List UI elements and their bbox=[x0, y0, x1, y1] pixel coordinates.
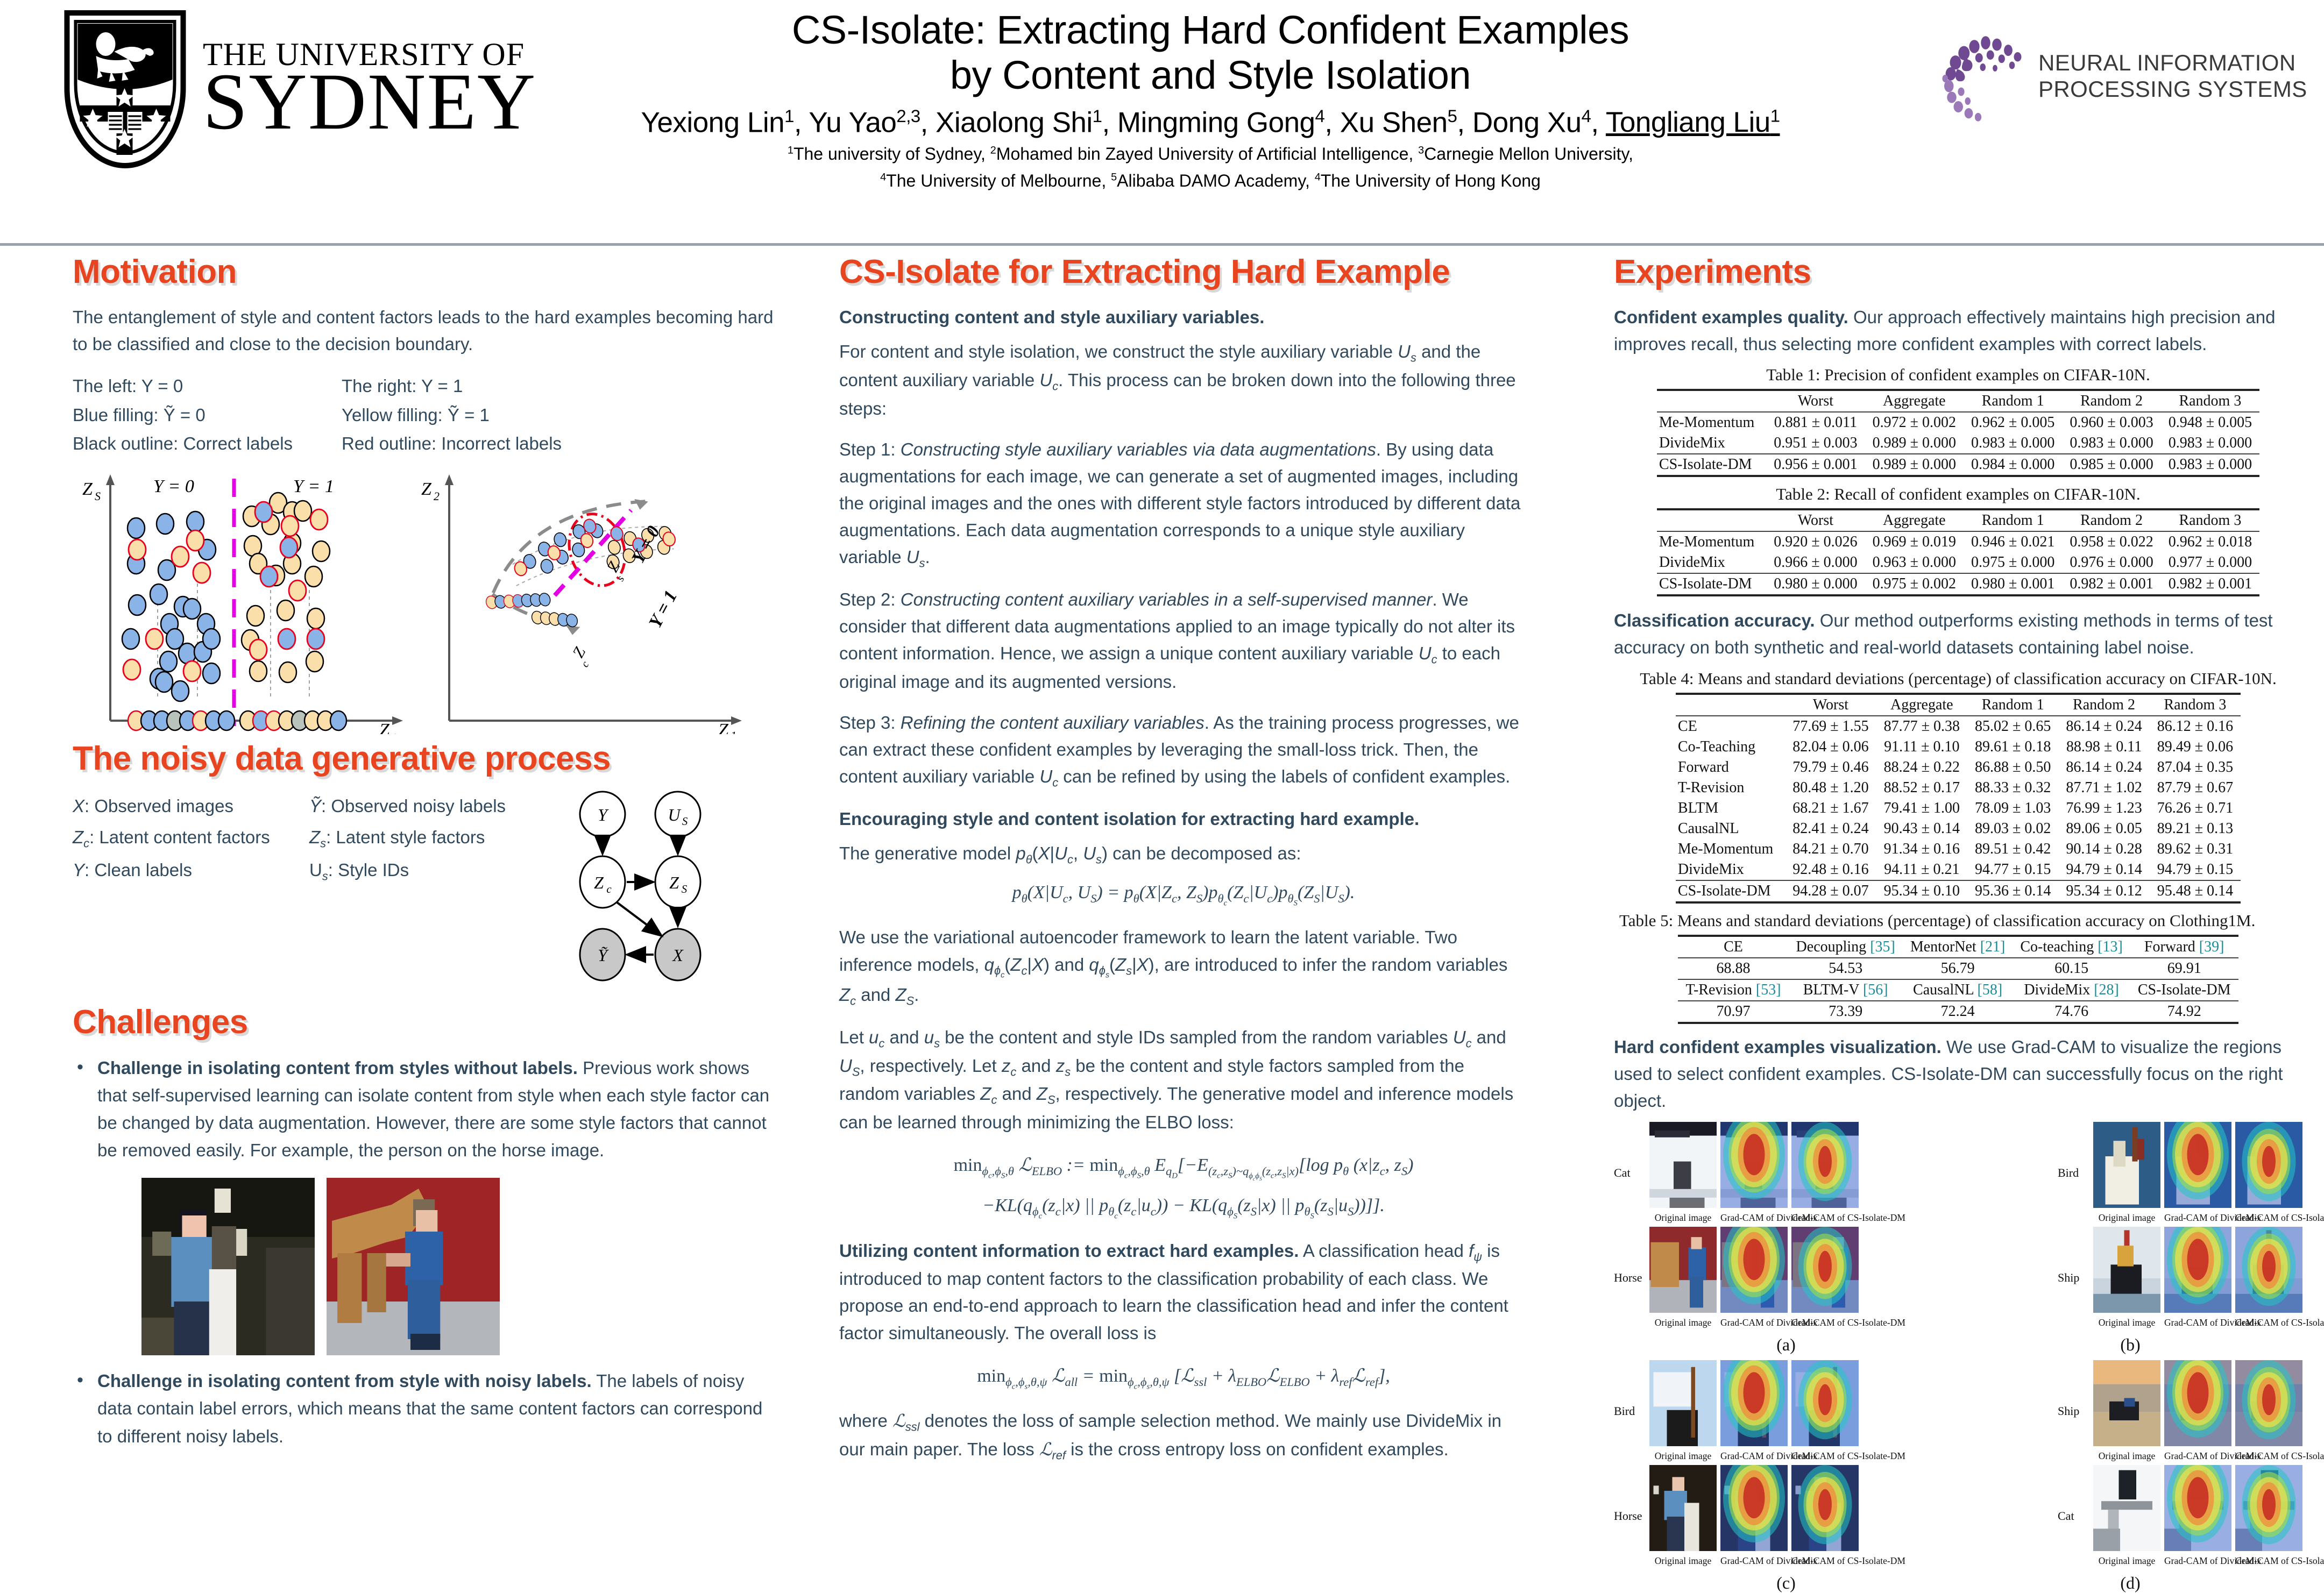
section-heading-challenges: Challenges bbox=[73, 1003, 777, 1041]
t4-r6-c2: 89.51 ± 0.42 bbox=[1967, 839, 2058, 859]
t4-r1-c1: 91.11 ± 0.10 bbox=[1876, 737, 1967, 757]
t4-r2-c1: 88.24 ± 0.22 bbox=[1876, 757, 1967, 778]
t5-v2-c4: 74.92 bbox=[2130, 1001, 2238, 1023]
t5-v2-c2: 72.24 bbox=[1903, 1001, 2013, 1023]
scatter-svg: Z S Z c Y = 0 Y = 1 bbox=[73, 468, 777, 734]
neurips-line-2: PROCESSING SYSTEMS bbox=[2038, 76, 2307, 103]
gradcam-image bbox=[2164, 1122, 2231, 1208]
subheading-gradcam-visualization: Hard confident examples visualization. bbox=[1614, 1037, 1942, 1057]
t4-r0-name: CE bbox=[1676, 716, 1785, 737]
gradcam-image bbox=[1720, 1465, 1788, 1551]
t4-r7-name: DivideMix bbox=[1676, 859, 1785, 880]
t2-col-3: Random 1 bbox=[1964, 509, 2062, 531]
svg-text:S: S bbox=[682, 883, 688, 895]
paragraph-step-2: Step 2: Constructing content auxiliary v… bbox=[839, 586, 1528, 695]
affiliations-line-1: 1The university of Sydney, 2Mohamed bin … bbox=[538, 143, 1883, 166]
t4-r6-name: Me-Momentum bbox=[1676, 839, 1785, 859]
gradcam-image bbox=[2164, 1227, 2231, 1313]
t1-r0-name: Me-Momentum bbox=[1657, 412, 1766, 433]
gradcam-panel-b: BirdOriginal imageGrad-CAM of DivideMixG… bbox=[2058, 1122, 2302, 1332]
definition-y: Y: Clean labels bbox=[73, 855, 309, 886]
svg-text:Z: Z bbox=[669, 873, 679, 892]
table-row: Forward79.79 ± 0.4688.24 ± 0.2286.88 ± 0… bbox=[1676, 757, 2241, 778]
t1-r1-c3: 0.983 ± 0.000 bbox=[2062, 433, 2160, 454]
gradcam-image bbox=[1720, 1227, 1788, 1313]
paragraph-step-3: Step 3: Refining the content auxiliary v… bbox=[839, 709, 1528, 792]
gradcam-row-ab: CatOriginal imageGrad-CAM of DivideMixGr… bbox=[1614, 1122, 2302, 1332]
gradcam-column-caption: Grad-CAM of CS-Isolate-DM bbox=[2235, 1450, 2302, 1462]
t4-hl-c1: 95.34 ± 0.10 bbox=[1876, 880, 1967, 902]
subheading-confident-quality: Confident examples quality. bbox=[1614, 307, 1848, 327]
t2-r1-c4: 0.977 ± 0.000 bbox=[2161, 552, 2259, 573]
gradcam-image bbox=[2093, 1227, 2160, 1313]
gradcam-column-caption: Grad-CAM of DivideMix bbox=[1720, 1555, 1788, 1567]
gradcam-cell: Original image bbox=[1649, 1360, 1717, 1462]
svg-text:c: c bbox=[579, 659, 592, 669]
gradcam-cell: Original image bbox=[2093, 1465, 2160, 1567]
gradcam-image bbox=[1791, 1360, 1859, 1446]
gradcam-cell: Original image bbox=[1649, 1122, 1717, 1224]
gradcam-image bbox=[1649, 1122, 1717, 1208]
poster-root: THE UNIVERSITY OF SYDNEY CS-Isolate: Ext… bbox=[0, 0, 2324, 1549]
t5-h1-c0: CE bbox=[1678, 936, 1788, 958]
t1-hl-c1: 0.989 ± 0.000 bbox=[1865, 454, 1964, 476]
t4-r3-c3: 87.71 ± 1.02 bbox=[2058, 778, 2149, 798]
gradcam-row-cd: BirdOriginal imageGrad-CAM of DivideMixG… bbox=[1614, 1360, 2302, 1570]
t4-r0-c0: 77.69 ± 1.55 bbox=[1785, 716, 1876, 737]
gradcam-image bbox=[1649, 1465, 1717, 1551]
neurips-logo: NEURAL INFORMATION PROCESSING SYSTEMS bbox=[1937, 23, 2313, 130]
t2-r1-c1: 0.963 ± 0.000 bbox=[1865, 552, 1964, 573]
t4-hl-c0: 94.28 ± 0.07 bbox=[1785, 880, 1876, 902]
svg-text:X: X bbox=[671, 945, 684, 965]
gradcam-cell: Original image bbox=[1649, 1227, 1717, 1328]
t4-r7-c3: 94.79 ± 0.14 bbox=[2058, 859, 2149, 880]
table-row: T-Revision80.48 ± 1.2088.52 ± 0.1788.33 … bbox=[1676, 778, 2241, 798]
table-5-caption: Table 5: Means and standard deviations (… bbox=[1614, 911, 2302, 930]
subheading-classification-accuracy: Classification accuracy. bbox=[1614, 610, 1815, 630]
causal-graph: Y US Zc ZS Ỹ X bbox=[546, 791, 740, 992]
table-row: Me-Momentum 0.881 ± 0.011 0.972 ± 0.002 … bbox=[1657, 412, 2259, 433]
gradcam-cell: Grad-CAM of DivideMix bbox=[2164, 1122, 2231, 1224]
t5-v2-c0: 70.97 bbox=[1678, 1001, 1788, 1023]
t5-v1-c1: 54.53 bbox=[1789, 958, 1903, 979]
table-row: 70.9773.3972.2474.7674.92 bbox=[1678, 1001, 2238, 1023]
formula-overall-loss: minϕc,ϕs,θ,ψ ℒall = minϕc,ϕs,θ,ψ [ℒssl +… bbox=[839, 1361, 1528, 1393]
gradcam-class-label: Horse bbox=[1614, 1509, 1649, 1523]
t2-col-4: Random 2 bbox=[2062, 509, 2160, 531]
table-row: CEDecoupling [35]MentorNet [21]Co-teachi… bbox=[1678, 936, 2238, 958]
t1-hl-c0: 0.956 ± 0.001 bbox=[1766, 454, 1865, 476]
t4-r0-c2: 85.02 ± 0.65 bbox=[1967, 716, 2058, 737]
gradcam-panel-c: BirdOriginal imageGrad-CAM of DivideMixG… bbox=[1614, 1360, 1859, 1570]
gradcam-column-caption: Original image bbox=[2093, 1450, 2160, 1462]
gradcam-cell: Grad-CAM of DivideMix bbox=[2164, 1360, 2231, 1462]
challenge-item-1: Challenge in isolating content from styl… bbox=[73, 1054, 777, 1164]
gradcam-cell: Grad-CAM of DivideMix bbox=[1720, 1227, 1788, 1328]
gradcam-class-label: Cat bbox=[2058, 1509, 2093, 1523]
causal-graph-svg: Y US Zc ZS Ỹ X bbox=[546, 791, 734, 990]
paragraph-step-1: Step 1: Constructing style auxiliary var… bbox=[839, 436, 1528, 572]
t5-v2-c3: 74.76 bbox=[2013, 1001, 2130, 1023]
t2-hl-c1: 0.975 ± 0.002 bbox=[1865, 573, 1964, 595]
t5-v2-c1: 73.39 bbox=[1789, 1001, 1903, 1023]
t1-r0-c4: 0.948 ± 0.005 bbox=[2161, 412, 2259, 433]
t4-r6-c4: 89.62 ± 0.31 bbox=[2150, 839, 2241, 859]
t2-col-0 bbox=[1657, 509, 1766, 531]
gradcam-image bbox=[1791, 1227, 1859, 1313]
gradcam-image bbox=[2235, 1227, 2302, 1313]
t4-r5-name: CausalNL bbox=[1676, 819, 1785, 839]
t5-h2-c1: BLTM-V [56] bbox=[1789, 979, 1903, 1001]
svg-text:Y = 1: Y = 1 bbox=[645, 587, 681, 631]
t1-r1-c4: 0.983 ± 0.000 bbox=[2161, 433, 2259, 454]
paragraph-generative-model: The generative model pθ(X|Uc, Us) can be… bbox=[839, 840, 1528, 869]
gradcam-column-caption: Grad-CAM of DivideMix bbox=[2164, 1555, 2231, 1567]
t4-r2-c0: 79.79 ± 0.46 bbox=[1785, 757, 1876, 778]
table-row: DivideMix92.48 ± 0.1694.11 ± 0.2194.77 ±… bbox=[1676, 859, 2241, 880]
gradcam-image bbox=[2093, 1360, 2160, 1446]
t5-v1-c0: 68.88 bbox=[1678, 958, 1788, 979]
gradcam-cell: Grad-CAM of DivideMix bbox=[1720, 1122, 1788, 1224]
t4-r7-c2: 94.77 ± 0.15 bbox=[1967, 859, 2058, 880]
t4-col-4: Random 2 bbox=[2058, 694, 2149, 716]
gradcam-cell: Grad-CAM of CS-Isolate-DM bbox=[2235, 1465, 2302, 1567]
t2-r1-name: DivideMix bbox=[1657, 552, 1766, 573]
table-row: DivideMix 0.966 ± 0.000 0.963 ± 0.000 0.… bbox=[1657, 552, 2259, 573]
subfig-label-c: (c) bbox=[1614, 1573, 1958, 1593]
t4-r2-c3: 86.14 ± 0.24 bbox=[2058, 757, 2149, 778]
gradcam-column-caption: Grad-CAM of DivideMix bbox=[2164, 1317, 2231, 1328]
paragraph-construct: For content and style isolation, we cons… bbox=[839, 338, 1528, 422]
gradcam-image bbox=[2235, 1465, 2302, 1551]
gradcam-image bbox=[1720, 1360, 1788, 1446]
column-right: Experiments Confident examples quality. … bbox=[1614, 253, 2302, 1593]
t4-r5-c2: 89.03 ± 0.02 bbox=[1967, 819, 2058, 839]
subheading-utilizing-content: Utilizing content information to extract… bbox=[839, 1241, 1299, 1261]
subheading-constructing-variables: Constructing content and style auxiliary… bbox=[839, 307, 1264, 327]
section-heading-experiments: Experiments bbox=[1614, 253, 2302, 291]
table-row-highlight: CS-Isolate-DM 0.980 ± 0.000 0.975 ± 0.00… bbox=[1657, 573, 2259, 595]
gradcam-class-label: Horse bbox=[1614, 1271, 1649, 1285]
formula-elbo-line-2: −KL(qϕc(zc|x) || pθc(zc|uc)) − KL(qϕS(zS… bbox=[839, 1190, 1528, 1223]
motivation-paragraph: The entanglement of style and content fa… bbox=[73, 304, 777, 358]
svg-text:s: s bbox=[614, 574, 627, 583]
legend-left-2: Black outline: Correct labels bbox=[73, 429, 342, 458]
t4-hl-c2: 95.36 ± 0.14 bbox=[1967, 880, 2058, 902]
gradcam-column-caption: Original image bbox=[2093, 1317, 2160, 1328]
t5-h2-c2: CausalNL [58] bbox=[1903, 979, 2013, 1001]
gradcam-cell: Original image bbox=[1649, 1465, 1717, 1567]
gradcam-column-caption: Grad-CAM of DivideMix bbox=[1720, 1212, 1788, 1224]
svg-text:Y = 0: Y = 0 bbox=[153, 477, 194, 496]
gradcam-image bbox=[2235, 1360, 2302, 1446]
gradcam-image bbox=[1649, 1360, 1717, 1446]
neurips-line-1: NEURAL INFORMATION bbox=[2038, 50, 2307, 76]
t2-col-2: Aggregate bbox=[1865, 509, 1964, 531]
t2-r1-c0: 0.966 ± 0.000 bbox=[1766, 552, 1865, 573]
gradcam-cell: Grad-CAM of DivideMix bbox=[2164, 1227, 2231, 1328]
gradcam-cell: Original image bbox=[2093, 1122, 2160, 1224]
gradcam-column-caption: Grad-CAM of CS-Isolate-DM bbox=[2235, 1555, 2302, 1567]
t4-r1-c4: 89.49 ± 0.06 bbox=[2150, 737, 2241, 757]
t4-r6-c1: 91.34 ± 0.16 bbox=[1876, 839, 1967, 859]
t2-r1-c2: 0.975 ± 0.000 bbox=[1964, 552, 2062, 573]
t5-v1-c2: 56.79 bbox=[1903, 958, 2013, 979]
t4-r5-c0: 82.41 ± 0.24 bbox=[1785, 819, 1876, 839]
t2-r0-c2: 0.946 ± 0.021 bbox=[1964, 531, 2062, 552]
t1-col-5: Random 3 bbox=[2161, 390, 2259, 412]
t2-hl-c3: 0.982 ± 0.001 bbox=[2062, 573, 2160, 595]
section-heading-motivation: Motivation bbox=[73, 253, 777, 291]
t1-col-0 bbox=[1657, 390, 1766, 412]
gradcam-column-caption: Original image bbox=[2093, 1555, 2160, 1567]
gradcam-image bbox=[1791, 1465, 1859, 1551]
table-row: BLTM68.21 ± 1.6779.41 ± 1.0078.09 ± 1.03… bbox=[1676, 798, 2241, 819]
author-list: Yexiong Lin1, Yu Yao2,3, Xiaolong Shi1, … bbox=[538, 106, 1883, 139]
t4-r2-c4: 87.04 ± 0.35 bbox=[2150, 757, 2241, 778]
t4-r4-c3: 76.99 ± 1.23 bbox=[2058, 798, 2149, 819]
gradcam-cell: Grad-CAM of CS-Isolate-DM bbox=[1791, 1122, 1859, 1224]
column-left: Motivation The entanglement of style and… bbox=[73, 253, 777, 1464]
t1-hl-c2: 0.984 ± 0.000 bbox=[1964, 454, 2062, 476]
svg-text:Y = 1: Y = 1 bbox=[293, 477, 334, 496]
gradcam-image bbox=[1649, 1227, 1717, 1313]
table-row: DivideMix 0.951 ± 0.003 0.989 ± 0.000 0.… bbox=[1657, 433, 2259, 454]
poster-title-line-2: by Content and Style Isolation bbox=[538, 53, 1883, 98]
gradcam-cell: Grad-CAM of CS-Isolate-DM bbox=[1791, 1465, 1859, 1567]
t4-r4-c1: 79.41 ± 1.00 bbox=[1876, 798, 1967, 819]
t4-r3-c1: 88.52 ± 0.17 bbox=[1876, 778, 1967, 798]
gradcam-column-caption: Grad-CAM of CS-Isolate-DM bbox=[2235, 1317, 2302, 1328]
t1-r1-c0: 0.951 ± 0.003 bbox=[1766, 433, 1865, 454]
section-heading-generative-process: The noisy data generative process bbox=[73, 739, 777, 778]
gradcam-column-caption: Original image bbox=[1649, 1555, 1717, 1567]
t4-r1-c3: 88.98 ± 0.11 bbox=[2058, 737, 2149, 757]
t4-r4-c2: 78.09 ± 1.03 bbox=[1967, 798, 2058, 819]
gradcam-column-caption: Original image bbox=[1649, 1317, 1717, 1328]
subfig-label-d: (d) bbox=[1958, 1573, 2302, 1593]
table-2-recall: Worst Aggregate Random 1 Random 2 Random… bbox=[1657, 508, 2259, 596]
svg-text:Z: Z bbox=[569, 644, 589, 660]
gradcam-class-label: Ship bbox=[2058, 1271, 2093, 1285]
gradcam-column-caption: Grad-CAM of DivideMix bbox=[2164, 1212, 2231, 1224]
t4-r2-name: Forward bbox=[1676, 757, 1785, 778]
t2-r0-c1: 0.969 ± 0.019 bbox=[1865, 531, 1964, 552]
gradcam-class-label: Cat bbox=[1614, 1166, 1649, 1180]
t4-col-5: Random 3 bbox=[2150, 694, 2241, 716]
t2-hl-c0: 0.980 ± 0.000 bbox=[1766, 573, 1865, 595]
definition-us: Us: Style IDs bbox=[309, 855, 546, 887]
t4-r7-c4: 94.79 ± 0.15 bbox=[2150, 859, 2241, 880]
t4-r4-c0: 68.21 ± 1.67 bbox=[1785, 798, 1876, 819]
gradcam-image bbox=[2093, 1122, 2160, 1208]
gradcam-cell: Grad-CAM of CS-Isolate-DM bbox=[1791, 1227, 1859, 1328]
svg-text:Z: Z bbox=[421, 479, 432, 499]
t4-r5-c1: 90.43 ± 0.14 bbox=[1876, 819, 1967, 839]
column-middle: CS-Isolate for Extracting Hard Example C… bbox=[839, 253, 1528, 1478]
gradcam-cell: Grad-CAM of DivideMix bbox=[1720, 1360, 1788, 1462]
gradcam-subfig-labels-ab: (a) (b) bbox=[1614, 1332, 2302, 1355]
t4-col-1: Worst bbox=[1785, 694, 1876, 716]
gradcam-column-caption: Grad-CAM of CS-Isolate-DM bbox=[2235, 1212, 2302, 1224]
table-row: T-Revision [53]BLTM-V [56]CausalNL [58]D… bbox=[1678, 979, 2238, 1001]
challenges-list: Challenge in isolating content from styl… bbox=[73, 1054, 777, 1164]
challenge-item-2: Challenge in isolating content from styl… bbox=[73, 1367, 777, 1449]
t1-col-2: Aggregate bbox=[1865, 390, 1964, 412]
gradcam-cell: Grad-CAM of DivideMix bbox=[2164, 1465, 2231, 1567]
svg-text:Z: Z bbox=[82, 479, 93, 499]
t1-hl-c4: 0.983 ± 0.000 bbox=[2161, 454, 2259, 476]
t4-r1-c0: 82.04 ± 0.06 bbox=[1785, 737, 1876, 757]
t1-r1-name: DivideMix bbox=[1657, 433, 1766, 454]
gradcam-column-caption: Grad-CAM of CS-Isolate-DM bbox=[1791, 1450, 1859, 1462]
photo-person-night bbox=[141, 1178, 315, 1355]
svg-text:Z: Z bbox=[594, 873, 604, 892]
t4-hl-c4: 95.48 ± 0.14 bbox=[2150, 880, 2241, 902]
t5-h2-c0: T-Revision [53] bbox=[1678, 979, 1788, 1001]
t4-col-0 bbox=[1676, 694, 1785, 716]
t4-r0-c3: 86.14 ± 0.24 bbox=[2058, 716, 2149, 737]
t5-h1-c4: Forward [39] bbox=[2130, 936, 2238, 958]
gradcam-cell: Original image bbox=[2093, 1360, 2160, 1462]
t1-r0-c1: 0.972 ± 0.002 bbox=[1865, 412, 1964, 433]
table-2-caption: Table 2: Recall of confident examples on… bbox=[1614, 485, 2302, 504]
t2-col-5: Random 3 bbox=[2161, 509, 2259, 531]
challenges-list-2: Challenge in isolating content from styl… bbox=[73, 1367, 777, 1449]
t5-h2-c4: CS-Isolate-DM bbox=[2130, 979, 2238, 1001]
definition-zc: Zc: Latent content factors bbox=[73, 822, 309, 854]
poster-title-line-1: CS-Isolate: Extracting Hard Confident Ex… bbox=[538, 8, 1883, 53]
t4-r7-c0: 92.48 ± 0.16 bbox=[1785, 859, 1876, 880]
example-photos bbox=[141, 1178, 777, 1355]
svg-text:1: 1 bbox=[731, 729, 736, 734]
header-divider bbox=[0, 243, 2324, 246]
poster-header: THE UNIVERSITY OF SYDNEY CS-Isolate: Ext… bbox=[0, 0, 2324, 245]
definition-x: X: Observed images bbox=[73, 791, 309, 822]
table-row: CausalNL82.41 ± 0.2490.43 ± 0.1489.03 ± … bbox=[1676, 819, 2241, 839]
gradcam-column-caption: Original image bbox=[1649, 1212, 1717, 1224]
definition-zs: Zs: Latent style factors bbox=[309, 822, 546, 854]
figure-latent-space-scatter: Z S Z c Y = 0 Y = 1 bbox=[73, 468, 777, 734]
section-heading-cs-isolate: CS-Isolate for Extracting Hard Example bbox=[839, 253, 1528, 291]
formula-generative-decomposition: pθ(X|Uc, US) = pθ(X|Zc, ZS)pθc(Zc|Uc)pθS… bbox=[839, 877, 1528, 910]
table-row: Co-Teaching82.04 ± 0.0691.11 ± 0.1089.61… bbox=[1676, 737, 2241, 757]
paragraph-loss-explanation: where ℒssl denotes the loss of sample se… bbox=[839, 1407, 1528, 1464]
table-4-caption: Table 4: Means and standard deviations (… bbox=[1614, 669, 2302, 688]
variable-definitions: X: Observed images Zc: Latent content fa… bbox=[73, 791, 546, 992]
gradcam-column-caption: Grad-CAM of CS-Isolate-DM bbox=[1791, 1317, 1859, 1328]
gradcam-image bbox=[1791, 1122, 1859, 1208]
scatter-legend: The left: Y = 0 Blue filling: Ỹ = 0 Blac… bbox=[73, 372, 777, 458]
t1-col-1: Worst bbox=[1766, 390, 1865, 412]
svg-text:S: S bbox=[95, 489, 101, 503]
t1-r0-c2: 0.962 ± 0.005 bbox=[1964, 412, 2062, 433]
svg-text:Z: Z bbox=[718, 720, 729, 734]
svg-text:S: S bbox=[682, 815, 688, 828]
t2-r0-name: Me-Momentum bbox=[1657, 531, 1766, 552]
gradcam-image bbox=[1720, 1122, 1788, 1208]
gradcam-panel-d: ShipOriginal imageGrad-CAM of DivideMixG… bbox=[2058, 1360, 2302, 1570]
svg-text:2: 2 bbox=[434, 489, 440, 503]
gradcam-panel-a: CatOriginal imageGrad-CAM of DivideMixGr… bbox=[1614, 1122, 1859, 1332]
table-row: Me-Momentum84.21 ± 0.7091.34 ± 0.1689.51… bbox=[1676, 839, 2241, 859]
gradcam-column-caption: Grad-CAM of DivideMix bbox=[1720, 1317, 1788, 1328]
gradcam-cell: Grad-CAM of CS-Isolate-DM bbox=[2235, 1122, 2302, 1224]
sydney-crest-icon bbox=[59, 9, 191, 170]
generative-process-block: X: Observed images Zc: Latent content fa… bbox=[73, 791, 777, 992]
gradcam-class-label: Bird bbox=[1614, 1404, 1649, 1418]
t5-h1-c2: MentorNet [21] bbox=[1903, 936, 2013, 958]
t2-r0-c3: 0.958 ± 0.022 bbox=[2062, 531, 2160, 552]
svg-text:c: c bbox=[392, 729, 397, 734]
gradcam-cell: Grad-CAM of DivideMix bbox=[1720, 1465, 1788, 1567]
t1-r1-c2: 0.983 ± 0.000 bbox=[1964, 433, 2062, 454]
gradcam-column-caption: Original image bbox=[1649, 1450, 1717, 1462]
t2-r1-c3: 0.976 ± 0.000 bbox=[2062, 552, 2160, 573]
legend-right-1: Yellow filling: Ỹ = 1 bbox=[342, 401, 675, 429]
t1-r0-c0: 0.881 ± 0.011 bbox=[1766, 412, 1865, 433]
gradcam-column-caption: Grad-CAM of CS-Isolate-DM bbox=[1791, 1555, 1859, 1567]
gradcam-subfig-labels-cd: (c) (d) bbox=[1614, 1570, 2302, 1593]
subfig-label-b: (b) bbox=[1958, 1335, 2302, 1355]
t4-r6-c3: 90.14 ± 0.28 bbox=[2058, 839, 2149, 859]
t4-r5-c4: 89.21 ± 0.13 bbox=[2150, 819, 2241, 839]
t5-v1-c4: 69.91 bbox=[2130, 958, 2238, 979]
legend-left-1: Blue filling: Ỹ = 0 bbox=[73, 401, 342, 429]
t4-r0-c1: 87.77 ± 0.38 bbox=[1876, 716, 1967, 737]
t4-r3-c4: 87.79 ± 0.67 bbox=[2150, 778, 2241, 798]
t4-r4-c4: 76.26 ± 0.71 bbox=[2150, 798, 2241, 819]
table-5-clothing1m-accuracy: CEDecoupling [35]MentorNet [21]Co-teachi… bbox=[1678, 935, 2238, 1024]
svg-text:c: c bbox=[606, 883, 612, 895]
gradcam-image bbox=[2164, 1360, 2231, 1446]
subfig-label-a: (a) bbox=[1614, 1335, 1958, 1355]
gradcam-cell: Grad-CAM of CS-Isolate-DM bbox=[1791, 1360, 1859, 1462]
t1-hl-c3: 0.985 ± 0.000 bbox=[2062, 454, 2160, 476]
title-block: CS-Isolate: Extracting Hard Confident Ex… bbox=[538, 8, 1883, 193]
photo-person-with-horse bbox=[327, 1178, 500, 1355]
t1-r1-c1: 0.989 ± 0.000 bbox=[1865, 433, 1964, 454]
t1-col-4: Random 2 bbox=[2062, 390, 2160, 412]
t5-v1-c3: 60.15 bbox=[2013, 958, 2130, 979]
table-row: Me-Momentum 0.920 ± 0.026 0.969 ± 0.019 … bbox=[1657, 531, 2259, 552]
t1-r0-c3: 0.960 ± 0.003 bbox=[2062, 412, 2160, 433]
gradcam-image bbox=[2235, 1122, 2302, 1208]
t4-hl-c3: 95.34 ± 0.12 bbox=[2058, 880, 2149, 902]
t2-hl-c4: 0.982 ± 0.001 bbox=[2161, 573, 2259, 595]
t4-r2-c2: 86.88 ± 0.50 bbox=[1967, 757, 2058, 778]
table-4-cifar10n-accuracy: Worst Aggregate Random 1 Random 2 Random… bbox=[1676, 693, 2241, 904]
subheading-encouraging-isolation: Encouraging style and content isolation … bbox=[839, 809, 1419, 829]
t2-hl-c2: 0.980 ± 0.001 bbox=[1964, 573, 2062, 595]
t4-r1-c2: 89.61 ± 0.18 bbox=[1967, 737, 2058, 757]
definition-ytilde: Ỹ: Observed noisy labels bbox=[309, 791, 546, 822]
paragraph-vae: We use the variational autoencoder frame… bbox=[839, 924, 1528, 1010]
gradcam-column-caption: Grad-CAM of DivideMix bbox=[1720, 1450, 1788, 1462]
gradcam-column-caption: Original image bbox=[2093, 1212, 2160, 1224]
table-row: CE77.69 ± 1.5587.77 ± 0.3885.02 ± 0.6586… bbox=[1676, 716, 2241, 737]
svg-text:Z: Z bbox=[379, 720, 390, 734]
t5-h2-c3: DivideMix [28] bbox=[2013, 979, 2130, 1001]
table-1-caption: Table 1: Precision of confident examples… bbox=[1614, 365, 2302, 385]
t1-col-3: Random 1 bbox=[1964, 390, 2062, 412]
t5-h1-c3: Co-teaching [13] bbox=[2013, 936, 2130, 958]
university-of-sydney-logo: THE UNIVERSITY OF SYDNEY bbox=[59, 9, 597, 170]
table-row: 68.8854.5356.7960.1569.91 bbox=[1678, 958, 2238, 979]
svg-text:U: U bbox=[668, 805, 681, 824]
t4-hl-name: CS-Isolate-DM bbox=[1676, 880, 1785, 902]
